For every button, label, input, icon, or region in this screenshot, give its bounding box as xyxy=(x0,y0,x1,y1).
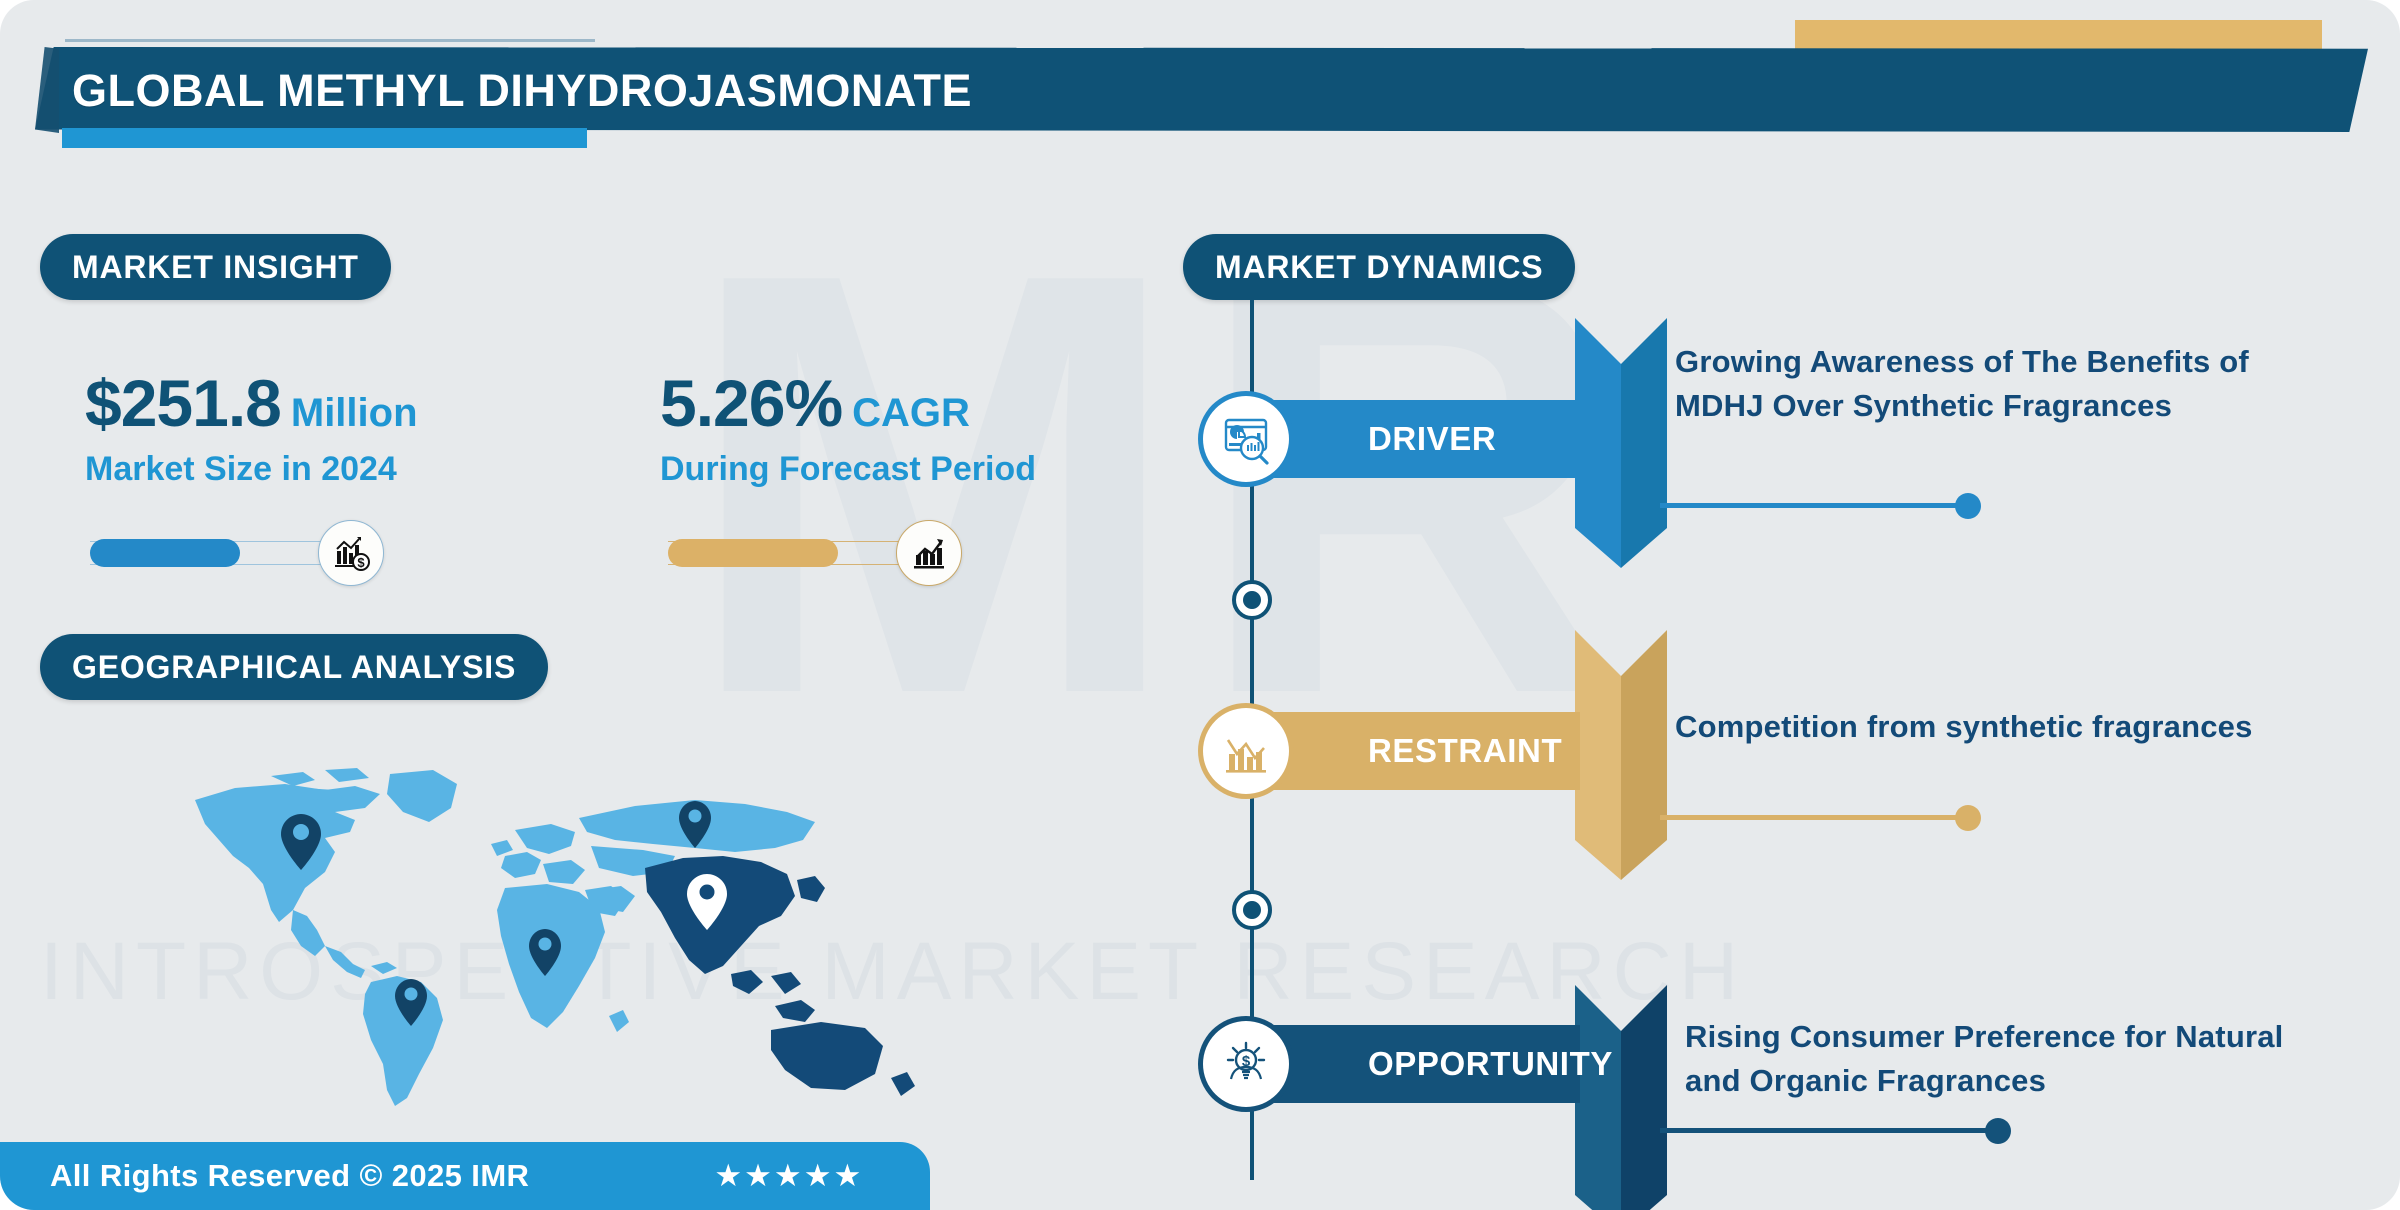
rating-stars: ★★★★★ xyxy=(714,1158,863,1194)
footer-bar: All Rights Reserved © 2025 IMR ★★★★★ xyxy=(0,1142,930,1210)
driver-bar: DRIVER xyxy=(1250,400,1580,478)
restraint-description: Competition from synthetic fragrances xyxy=(1675,705,2295,749)
stat-market-size: $251.8Million Market Size in 2024 xyxy=(85,370,605,489)
stat-unit: Million xyxy=(291,391,418,435)
driver-connector xyxy=(1660,503,1970,508)
header-hairline xyxy=(65,39,595,42)
svg-text:$: $ xyxy=(357,555,365,570)
stat-cagr: 5.26%CAGR During Forecast Period xyxy=(660,370,1200,489)
opportunity-bar: OPPORTUNITY xyxy=(1250,1025,1580,1103)
driver-ribbon xyxy=(1575,318,1665,568)
progress-market-size: $ xyxy=(90,520,340,586)
stat-caption: During Forecast Period xyxy=(660,450,1200,489)
stat-value: 5.26%CAGR xyxy=(660,370,1200,436)
restraint-bar: RESTRAINT xyxy=(1250,712,1580,790)
growth-arrow-icon xyxy=(896,520,962,586)
stat-unit: CAGR xyxy=(852,391,970,435)
opportunity-ribbon xyxy=(1575,985,1665,1210)
declining-chart-icon xyxy=(1203,708,1289,794)
stat-caption: Market Size in 2024 xyxy=(85,450,605,489)
driver-endpoint-dot xyxy=(1955,493,1981,519)
dynamics-node-2 xyxy=(1232,890,1272,930)
stat-value: $251.8Million xyxy=(85,370,605,436)
driver-description: Growing Awareness of The Benefits of MDH… xyxy=(1675,340,2295,428)
lightbulb-dollar-icon: $ xyxy=(1203,1021,1289,1107)
header-band-edge xyxy=(35,47,59,133)
copyright-text: All Rights Reserved © 2025 IMR xyxy=(50,1158,529,1194)
section-label-geographical-analysis: GEOGRAPHICAL ANALYSIS xyxy=(40,634,548,700)
dashboard-analysis-icon xyxy=(1203,396,1289,482)
restraint-endpoint-dot xyxy=(1955,805,1981,831)
opportunity-endpoint-dot xyxy=(1985,1118,2011,1144)
header-underbar xyxy=(62,128,587,148)
progress-fill xyxy=(90,539,240,567)
section-label-market-insight: MARKET INSIGHT xyxy=(40,234,391,300)
opportunity-connector xyxy=(1660,1128,2000,1133)
bar-chart-dollar-icon: $ xyxy=(318,520,384,586)
restraint-ribbon xyxy=(1575,630,1665,880)
opportunity-description: Rising Consumer Preference for Natural a… xyxy=(1685,1015,2325,1103)
progress-cagr xyxy=(668,520,918,586)
section-label-market-dynamics: MARKET DYNAMICS xyxy=(1183,234,1575,300)
page-title: GLOBAL METHYL DIHYDROJASMONATE xyxy=(72,55,972,127)
world-map: NORTH AMERICA SOUTH AMERICA EUROPE ASIA … xyxy=(175,760,965,1110)
progress-fill xyxy=(668,539,838,567)
restraint-connector xyxy=(1660,815,1970,820)
infographic-page: MR INTROSPECTIVE MARKET RESEARCH GLOBAL … xyxy=(0,0,2400,1210)
header-gold-accent xyxy=(1795,20,2322,52)
dynamics-node-1 xyxy=(1232,580,1272,620)
